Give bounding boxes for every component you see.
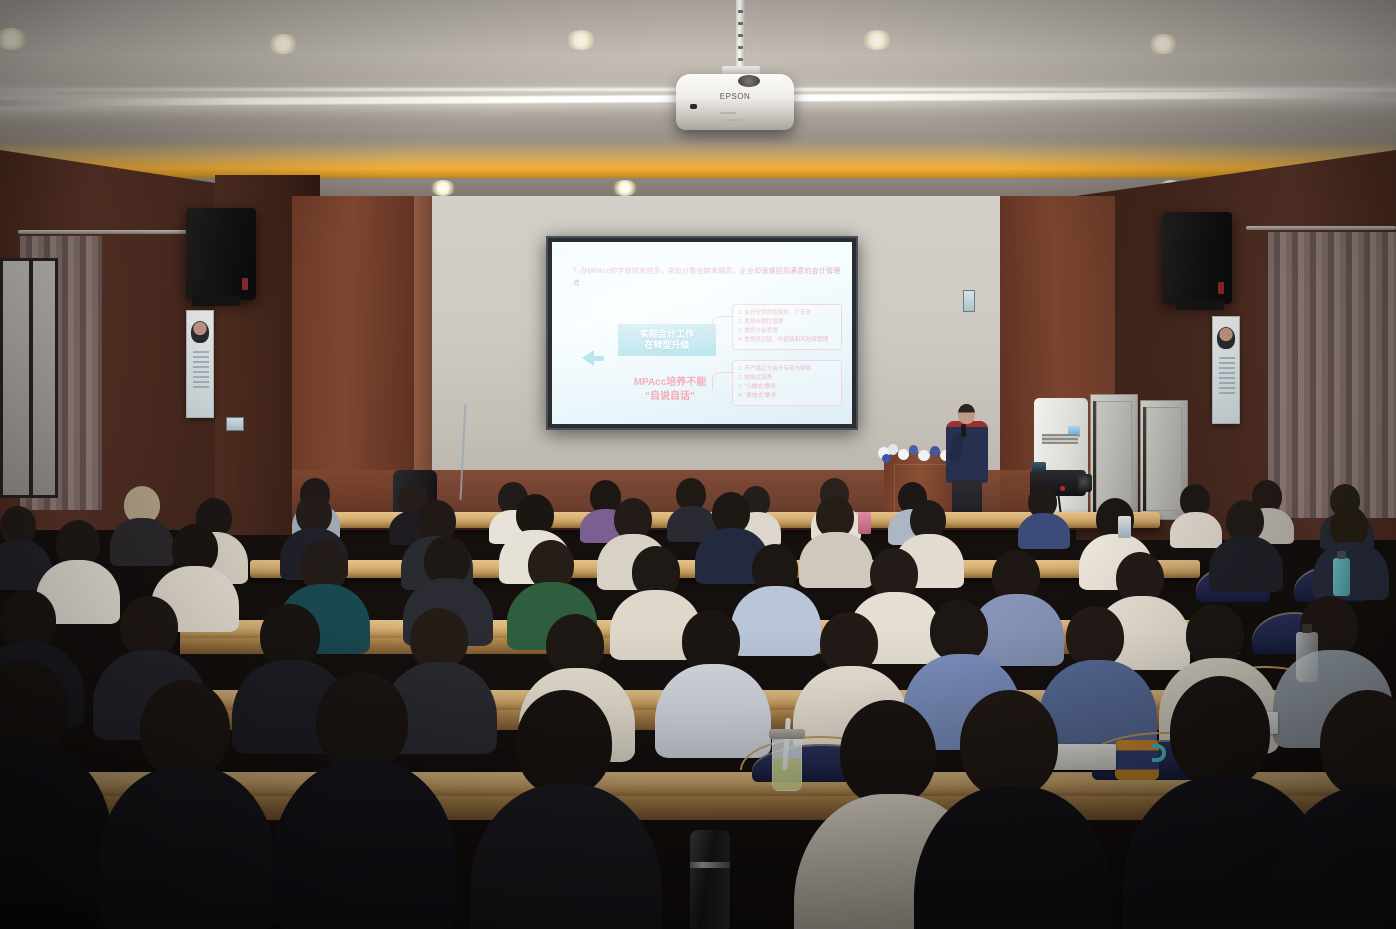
speaker-bracket [1176, 300, 1224, 310]
phone-icon [1118, 516, 1131, 538]
slide-bullet: 2. 校院式培养 [738, 374, 836, 383]
slide-connector-line [712, 316, 734, 340]
plaque-text-lines [193, 351, 209, 391]
slide-bullet-box-bottom: 1. 不严格区分会计专硕与学硕 2. 校院式培养 3. “小楼式”教育 4. “… [732, 360, 842, 406]
curtain-right[interactable] [1268, 232, 1396, 518]
slide-bullet: 3. 重视与会管理 [738, 327, 836, 336]
downlight-icon [566, 30, 596, 50]
downlight-icon [612, 180, 638, 196]
rack-door[interactable] [1096, 401, 1132, 513]
plaque-text-lines [1219, 357, 1235, 397]
camera-viewfinder-icon [1032, 462, 1046, 472]
microphone-icon [961, 424, 966, 437]
cup-lid [769, 729, 805, 739]
curtain-rod [18, 230, 214, 234]
wall-speaker-right [1162, 212, 1232, 304]
downlight-icon [430, 180, 456, 196]
slide-bullet: 4. “离地式”要求 [738, 392, 836, 401]
projection-screen-frame: ？办MPAcc的学校越来越多，录取分数也越来越高，企业却很难招到满意的会计管理者… [546, 236, 858, 430]
slide-heading: ？办MPAcc的学校越来越多，录取分数也越来越高，企业却很难招到满意的会计管理者 [573, 266, 841, 289]
slide-arrow-tail [594, 356, 604, 361]
slide-teal-box: 实际会计工作 在转型升级 [618, 324, 716, 356]
speaker-bracket [192, 296, 240, 306]
thermos-band [690, 862, 730, 868]
lecture-hall-photo: EPSON ？办MPAcc的学校越来越多，录取分数也越来越 [0, 0, 1396, 929]
camera-record-light-icon [1060, 486, 1065, 491]
black-thermos [690, 830, 730, 929]
downlight-icon [862, 30, 892, 50]
downlight-icon [1148, 34, 1178, 54]
slide-bullet: 2. 重视业财性管理 [738, 318, 836, 327]
window-left [0, 258, 58, 498]
wall-control-panel[interactable] [963, 290, 975, 312]
downlight-icon [268, 34, 298, 54]
phone-icon [858, 512, 871, 534]
slide-bullet-box-top: 1. 会计软件的智能化、广泛化 2. 重视业财性管理 3. 重视与会管理 4. … [732, 304, 842, 350]
clear-water-bottle [1296, 632, 1318, 682]
slide-bullet: 3. “小楼式”教育 [738, 383, 836, 392]
plaque-portrait-icon [191, 321, 209, 343]
projector-brand-label: EPSON [676, 92, 794, 101]
slide-bullet: 1. 不严格区分会计专硕与学硕 [738, 365, 836, 374]
portrait-plaque-left [186, 310, 214, 418]
slide-red-line-2: “自说自话” [610, 390, 730, 404]
slide-teal-line-2: 在转型升级 [644, 340, 689, 351]
rack-door[interactable] [1146, 407, 1182, 511]
portrait-plaque-right [1212, 316, 1240, 424]
wall-speaker-left [186, 208, 256, 300]
slide-bullet: 1. 会计软件的智能化、广泛化 [738, 309, 836, 318]
projector-vent [720, 112, 736, 114]
projector-ir-sensor-icon [690, 104, 697, 109]
slide-teal-line-1: 实际会计工作 [640, 329, 694, 340]
slide-arrow-icon [582, 350, 594, 366]
projector: EPSON [676, 74, 794, 130]
plaque-portrait-icon [1217, 327, 1235, 349]
projector-lens-icon [738, 75, 760, 87]
projection-screen: ？办MPAcc的学校越来越多，录取分数也越来越高，企业却很难招到满意的会计管理者… [552, 242, 852, 424]
camera-lens-icon [1078, 474, 1092, 492]
projector-vent [726, 119, 742, 121]
ac-grille [1042, 434, 1078, 444]
slide-connector-line [712, 372, 734, 390]
wall-control-panel[interactable] [226, 417, 244, 431]
teal-water-bottle [1333, 558, 1350, 596]
projector-mount-pole [736, 0, 745, 72]
projector-vent [720, 125, 736, 127]
curtain-rod [1246, 226, 1396, 230]
slide-bullet: 4. 重视供应链、价值链和风险链管理 [738, 336, 836, 345]
presenter-head [958, 404, 975, 424]
